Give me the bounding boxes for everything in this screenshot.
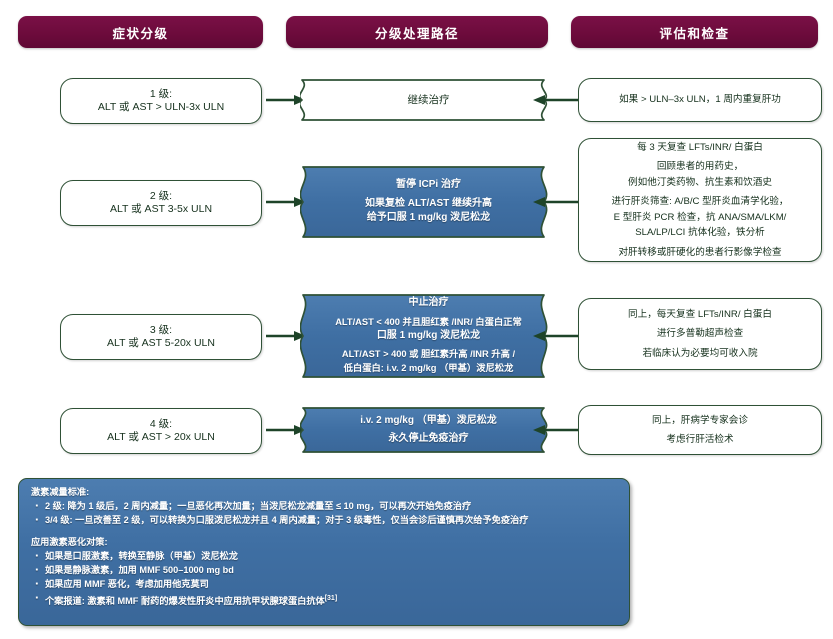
pathway-line: 低白蛋白: i.v. 2 mg/kg （甲基）泼尼松龙 xyxy=(326,361,531,376)
column-header-management-pathway: 分级处理路径 xyxy=(286,16,548,48)
grade-line: 1 级: xyxy=(150,88,172,102)
pathway-content: i.v. 2 mg/kg （甲基）泼尼松龙 永久停止免疫治疗 xyxy=(300,411,557,449)
grade-line: 4 级: xyxy=(150,418,172,432)
pathway-group: 永久停止免疫治疗 xyxy=(326,432,531,447)
assessment-box-4: 同上，肝病学专家会诊 考虑行肝活检术 xyxy=(578,405,822,455)
assessment-line: 回顾患者的用药史， xyxy=(628,159,772,175)
pathway-title: 中止治疗 xyxy=(326,296,531,311)
assessment-line: 进行肝炎筛查: A/B/C 型肝炎血清学化验， xyxy=(612,194,789,210)
assessment-box-3: 同上，每天复查 LFTs/INR/ 白蛋白 进行多普勒超声检查 若临床认为必要均… xyxy=(578,298,822,370)
assessment-group: 如果 > ULN–3x ULN，1 周内重复肝功 xyxy=(619,92,781,108)
column-header-label: 评估和检查 xyxy=(659,23,729,42)
assessment-group: 对肝转移或肝硬化的患者行影像学检查 xyxy=(618,245,781,261)
notes-list-item: 3/4 级: 一旦改善至 2 级，可以转换为口服泼尼松龙并且 4 周内减量；对于… xyxy=(29,514,619,527)
notes-list-item: 个案报道: 激素和 MMF 耐药的爆发性肝炎中应用抗甲状腺球蛋白抗体[31] xyxy=(29,592,619,608)
notes-list-item: 2 级: 降为 1 级后，2 周内减量；一旦恶化再次加量；当泼尼松龙减量至 ≤ … xyxy=(29,500,619,513)
grade-line: ALT 或 AST 5-20x ULN xyxy=(107,337,215,351)
assessment-line: 对肝转移或肝硬化的患者行影像学检查 xyxy=(618,245,781,261)
notes-item-text: 如果是口服激素，转换至静脉（甲基）泼尼松龙 xyxy=(45,551,238,561)
notes-panel: 激素减量标准: 2 级: 降为 1 级后，2 周内减量；一旦恶化再次加量；当泼尼… xyxy=(18,478,630,626)
notes-list-item: 如果应用 MMF 恶化，考虑加用他克莫司 xyxy=(29,578,619,591)
assessment-box-1: 如果 > ULN–3x ULN，1 周内重复肝功 xyxy=(578,78,822,122)
pathway-group: ALT/AST > 400 或 胆红素升高 /INR 升高 / 低白蛋白: i.… xyxy=(326,347,531,376)
notes-item-text: 如果是静脉激素，加用 MMF 500–1000 mg bd xyxy=(45,565,234,575)
assessment-group: 进行多普勒超声检查 xyxy=(657,326,743,342)
pathway-box-3: 中止治疗 ALT/AST < 400 并且胆红素 /INR/ 白蛋白正常 口服 … xyxy=(300,292,557,380)
pathway-content: 继续治疗 xyxy=(300,90,557,110)
notes-item-text: 2 级: 降为 1 级后，2 周内减量；一旦恶化再次加量；当泼尼松龙减量至 ≤ … xyxy=(45,501,471,511)
assessment-line: 同上，肝病学专家会诊 xyxy=(652,413,748,429)
column-header-assessment-investigation: 评估和检查 xyxy=(571,16,818,48)
pathway-line: 口服 1 mg/kg 泼尼松龙 xyxy=(326,329,531,344)
assessment-group: 每 3 天复查 LFTs/INR/ 白蛋白 xyxy=(637,140,763,156)
assessment-line: 考虑行肝活检术 xyxy=(666,432,733,448)
assessment-line: 同上，每天复查 LFTs/INR/ 白蛋白 xyxy=(628,307,772,323)
notes-item-text: 3/4 级: 一旦改善至 2 级，可以转换为口服泼尼松龙并且 4 周内减量；对于… xyxy=(45,515,528,525)
pathway-line: 如果复检 ALT/AST 继续升高 xyxy=(326,197,531,212)
assessment-group: 同上，每天复查 LFTs/INR/ 白蛋白 xyxy=(628,307,772,323)
assessment-line: 进行多普勒超声检查 xyxy=(657,326,743,342)
pathway-box-4: i.v. 2 mg/kg （甲基）泼尼松龙 永久停止免疫治疗 xyxy=(300,405,557,455)
notes-section1-title: 激素减量标准: xyxy=(31,486,619,499)
pathway-group: ALT/AST < 400 并且胆红素 /INR/ 白蛋白正常 口服 1 mg/… xyxy=(326,315,531,344)
pathway-line: ALT/AST > 400 或 胆红素升高 /INR 升高 / xyxy=(326,347,531,362)
pathway-line: ALT/AST < 400 并且胆红素 /INR/ 白蛋白正常 xyxy=(326,315,531,330)
assessment-line: 如果 > ULN–3x ULN，1 周内重复肝功 xyxy=(619,92,781,108)
assessment-group: 若临床认为必要均可收入院 xyxy=(642,346,757,362)
column-header-label: 症状分级 xyxy=(112,23,168,42)
citation-marker: [31] xyxy=(325,595,337,602)
pathway-title: 暂停 ICPi 治疗 xyxy=(326,178,531,193)
notes-list-item: 如果是口服激素，转换至静脉（甲基）泼尼松龙 xyxy=(29,550,619,563)
notes-section2-list: 如果是口服激素，转换至静脉（甲基）泼尼松龙 如果是静脉激素，加用 MMF 500… xyxy=(29,550,619,609)
grade-line: 2 级: xyxy=(150,190,172,204)
pathway-box-2: 暂停 ICPi 治疗 如果复检 ALT/AST 继续升高 给予口服 1 mg/k… xyxy=(300,164,557,240)
notes-list-item: 如果是静脉激素，加用 MMF 500–1000 mg bd xyxy=(29,564,619,577)
pathway-line: 继续治疗 xyxy=(326,93,531,107)
assessment-group: 回顾患者的用药史， 例如他汀类药物、抗生素和饮酒史 xyxy=(628,159,772,190)
assessment-group: 考虑行肝活检术 xyxy=(666,432,733,448)
assessment-line: 例如他汀类药物、抗生素和饮酒史 xyxy=(628,175,772,191)
pathway-box-1: 继续治疗 xyxy=(300,78,557,122)
assessment-line: 若临床认为必要均可收入院 xyxy=(642,346,757,362)
pathway-line: i.v. 2 mg/kg （甲基）泼尼松龙 xyxy=(326,414,531,429)
assessment-line: 每 3 天复查 LFTs/INR/ 白蛋白 xyxy=(637,140,763,156)
pathway-line: 永久停止免疫治疗 xyxy=(326,432,531,447)
grade-line: 3 级: xyxy=(150,324,172,338)
grade-box-3: 3 级: ALT 或 AST 5-20x ULN xyxy=(60,314,262,360)
pathway-group: 继续治疗 xyxy=(326,93,531,107)
pathway-line: 暂停 ICPi 治疗 xyxy=(326,178,531,193)
flowchart-canvas: 症状分级 分级处理路径 评估和检查 1 级: ALT 或 AST > ULN-3… xyxy=(0,0,833,639)
notes-item-text: 个案报道: 激素和 MMF 耐药的爆发性肝炎中应用抗甲状腺球蛋白抗体 xyxy=(45,596,325,606)
grade-line: ALT 或 AST > ULN-3x ULN xyxy=(98,101,224,115)
pathway-line: 中止治疗 xyxy=(326,296,531,311)
pathway-group: i.v. 2 mg/kg （甲基）泼尼松龙 xyxy=(326,414,531,429)
grade-box-2: 2 级: ALT 或 AST 3-5x ULN xyxy=(60,180,262,226)
grade-line: ALT 或 AST > 20x ULN xyxy=(107,431,215,445)
column-header-label: 分级处理路径 xyxy=(375,23,459,42)
notes-item-text: 如果应用 MMF 恶化，考虑加用他克莫司 xyxy=(45,579,209,589)
assessment-group: 同上，肝病学专家会诊 xyxy=(652,413,748,429)
pathway-group: 如果复检 ALT/AST 继续升高 给予口服 1 mg/kg 泼尼松龙 xyxy=(326,197,531,226)
column-header-symptom-grading: 症状分级 xyxy=(18,16,263,48)
grade-box-1: 1 级: ALT 或 AST > ULN-3x ULN xyxy=(60,78,262,124)
pathway-content: 中止治疗 ALT/AST < 400 并且胆红素 /INR/ 白蛋白正常 口服 … xyxy=(300,293,557,379)
notes-section1-list: 2 级: 降为 1 级后，2 周内减量；一旦恶化再次加量；当泼尼松龙减量至 ≤ … xyxy=(29,500,619,527)
assessment-line: SLA/LP/LCI 抗体化验，铁分析 xyxy=(612,225,789,241)
assessment-box-2: 每 3 天复查 LFTs/INR/ 白蛋白 回顾患者的用药史， 例如他汀类药物、… xyxy=(578,138,822,262)
grade-line: ALT 或 AST 3-5x ULN xyxy=(110,203,212,217)
pathway-line: 给予口服 1 mg/kg 泼尼松龙 xyxy=(326,211,531,226)
pathway-content: 暂停 ICPi 治疗 如果复检 ALT/AST 继续升高 给予口服 1 mg/k… xyxy=(300,175,557,229)
assessment-group: 进行肝炎筛查: A/B/C 型肝炎血清学化验， E 型肝炎 PCR 检查，抗 A… xyxy=(612,194,789,241)
notes-section2-title: 应用激素恶化对策: xyxy=(31,536,619,549)
grade-box-4: 4 级: ALT 或 AST > 20x ULN xyxy=(60,408,262,454)
assessment-line: E 型肝炎 PCR 检查，抗 ANA/SMA/LKM/ xyxy=(612,210,789,226)
